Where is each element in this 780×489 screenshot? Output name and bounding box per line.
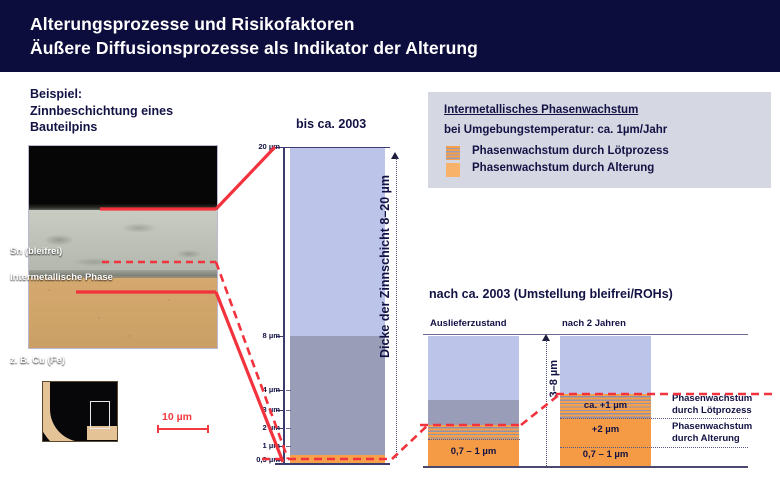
- center-tick-dash-2: [286, 428, 291, 429]
- center-tick-label-1: 1 µm: [236, 441, 280, 450]
- micrograph-label-imc: Intermetallische Phase: [10, 272, 113, 283]
- bar-a-solder-growth: [428, 425, 519, 439]
- center-chart-title: bis ca. 2003: [296, 117, 366, 131]
- slide-canvas: Alterungsprozesse und Risikofaktoren Äuß…: [0, 0, 780, 489]
- bottom-guide-line-solder: [560, 418, 748, 419]
- bottom-annotation-aging-line1: Phasenwachstum: [672, 421, 752, 433]
- micrograph-label-tin: Sn (bleifrei): [10, 246, 62, 257]
- callout-leader-a-to-b: [521, 394, 560, 425]
- legend-label-solder: Phasenwachstum durch Lötprozess: [472, 145, 669, 157]
- legend-swatch-solder: [446, 146, 460, 160]
- center-measure-dotted-line: [396, 158, 397, 458]
- center-tick-label-3: 3 µm: [236, 405, 280, 414]
- bottom-annotation-aging-line2: durch Alterung: [672, 433, 752, 445]
- micrograph-copper-layer: [29, 278, 217, 348]
- bottom-guide-line-a: [428, 439, 520, 440]
- slide-header: Alterungsprozesse und Risikofaktoren Äuß…: [0, 0, 780, 72]
- callout-leader-to-bottom-a: [392, 425, 428, 459]
- center-bar-tin-upper: [290, 148, 385, 336]
- bottom-guide-line-aging: [560, 447, 748, 448]
- micrograph-background-layer: [29, 146, 217, 208]
- bottom-chart-column-a-label: Auslieferzustand: [430, 318, 507, 329]
- inset-roi-box: [90, 401, 110, 429]
- center-tick-label-8: 8 µm: [236, 331, 280, 340]
- center-tick-label-4: 4 µm: [236, 385, 280, 394]
- legend-heading: Intermetallisches Phasenwachstum: [444, 104, 638, 116]
- bottom-annotation-solder-line2: durch Lötprozess: [672, 405, 752, 417]
- scale-bar: [157, 428, 209, 430]
- center-measure-arrow-icon: [391, 152, 399, 159]
- callout-leader-top: [216, 147, 275, 209]
- center-tick-label-20: 20 µm: [236, 142, 280, 151]
- legend-swatch-aging: [446, 163, 460, 177]
- center-chart-vertical-label: Dicke der Zinnschicht 8–20 µm: [378, 175, 392, 358]
- center-bar-imc-aging: [290, 455, 385, 463]
- bottom-annotation-solder-line1: Phasenwachstum: [672, 393, 752, 405]
- center-bar-tin-lower: [290, 336, 385, 455]
- center-tick-dash-4: [286, 390, 291, 391]
- example-title-line2: Zinnbeschichtung eines: [30, 103, 240, 120]
- center-chart-y-axis: [283, 148, 285, 464]
- callout-leader-bottom-solid: [216, 292, 283, 462]
- bar-b-tin-upper: [560, 336, 651, 394]
- center-tick-label-03: 0,3 µm: [230, 455, 280, 464]
- micrograph-tin-layer: [29, 210, 217, 274]
- center-tick-label-2: 2 µm: [236, 423, 280, 432]
- bottom-chart-baseline: [423, 466, 748, 468]
- bottom-measure-dotted-line: [546, 340, 547, 466]
- micrograph-inset-overview: [42, 381, 118, 442]
- center-tick-dash-1: [286, 446, 291, 447]
- bottom-chart-vertical-label: 3–8 µm: [548, 360, 560, 398]
- scale-bar-label: 10 µm: [162, 411, 192, 423]
- bottom-annotation-aging: Phasenwachstum durch Alterung: [672, 421, 752, 444]
- legend-label-aging: Phasenwachstum durch Alterung: [472, 162, 654, 174]
- center-tick-dash-3: [286, 410, 291, 411]
- example-title-line3: Bauteilpins: [30, 119, 240, 136]
- bar-b-base-label: 0,7 – 1 µm: [560, 449, 651, 460]
- bar-b-solder-label: ca. +1 µm: [560, 400, 651, 411]
- bottom-annotation-solder: Phasenwachstum durch Lötprozess: [672, 393, 752, 416]
- header-title-line2: Äußere Diffusionsprozesse als Indikator …: [30, 38, 478, 59]
- bottom-chart-title: nach ca. 2003 (Umstellung bleifrei/ROHs): [429, 287, 673, 301]
- bar-b-aging-label: +2 µm: [560, 424, 651, 435]
- bar-a-base-label: 0,7 – 1 µm: [428, 446, 519, 457]
- micrograph-label-base: z. B. Cu (Fe): [10, 355, 65, 366]
- example-title: Beispiel: Zinnbeschichtung eines Bauteil…: [30, 86, 240, 136]
- header-title-line1: Alterungsprozesse und Risikofaktoren: [30, 14, 355, 35]
- bottom-chart-column-b-label: nach 2 Jahren: [562, 318, 626, 329]
- example-title-line1: Beispiel:: [30, 86, 240, 103]
- center-chart-x-axis: [275, 463, 390, 465]
- bar-a-tin-upper: [428, 336, 519, 400]
- bar-a-tin-lower: [428, 400, 519, 425]
- legend-box: Intermetallisches Phasenwachstum bei Umg…: [428, 92, 771, 188]
- legend-subheading: bei Umgebungstemperatur: ca. 1µm/Jahr: [444, 124, 667, 136]
